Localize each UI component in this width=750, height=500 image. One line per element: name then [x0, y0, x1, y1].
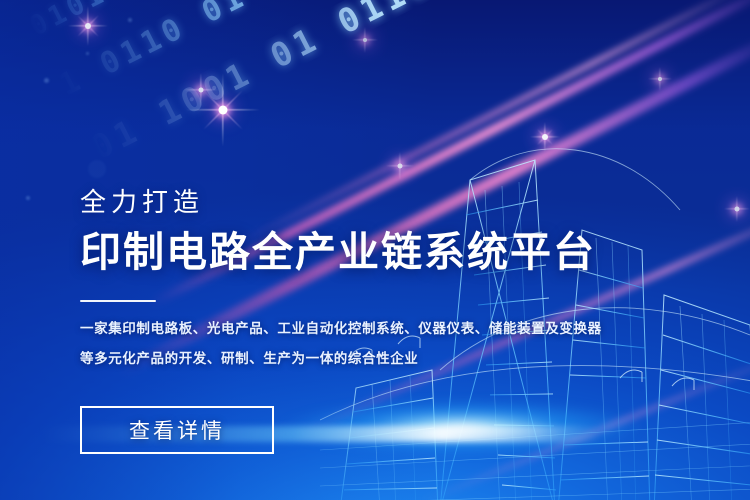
banner-content: 全力打造 印制电路全产业链系统平台 一家集印制电路板、光电产品、工业自动化控制系… — [80, 190, 680, 454]
dust-particle-2 — [86, 52, 89, 55]
title-divider — [80, 300, 156, 302]
dust-particle-1 — [44, 78, 49, 83]
view-details-button[interactable]: 查看详情 — [80, 406, 274, 454]
description-line-1: 一家集印制电路板、光电产品、工业自动化控制系统、仪器仪表、储能装置及变换器 — [80, 318, 680, 342]
dust-particle-3 — [128, 18, 132, 22]
dust-particle-4 — [88, 160, 106, 178]
banner-description: 一家集印制电路板、光电产品、工业自动化控制系统、仪器仪表、储能装置及变换器 等多… — [80, 318, 680, 371]
description-line-2: 等多元化产品的开发、研制、生产为一体的综合性企业 — [80, 348, 680, 372]
banner-eyebrow: 全力打造 — [80, 190, 680, 216]
dust-particle-5 — [26, 196, 30, 200]
hero-banner: 0110 1001 0101 1 0011 0110 1001 0101 1 0… — [0, 0, 750, 500]
banner-headline: 印制电路全产业链系统平台 — [80, 230, 680, 274]
